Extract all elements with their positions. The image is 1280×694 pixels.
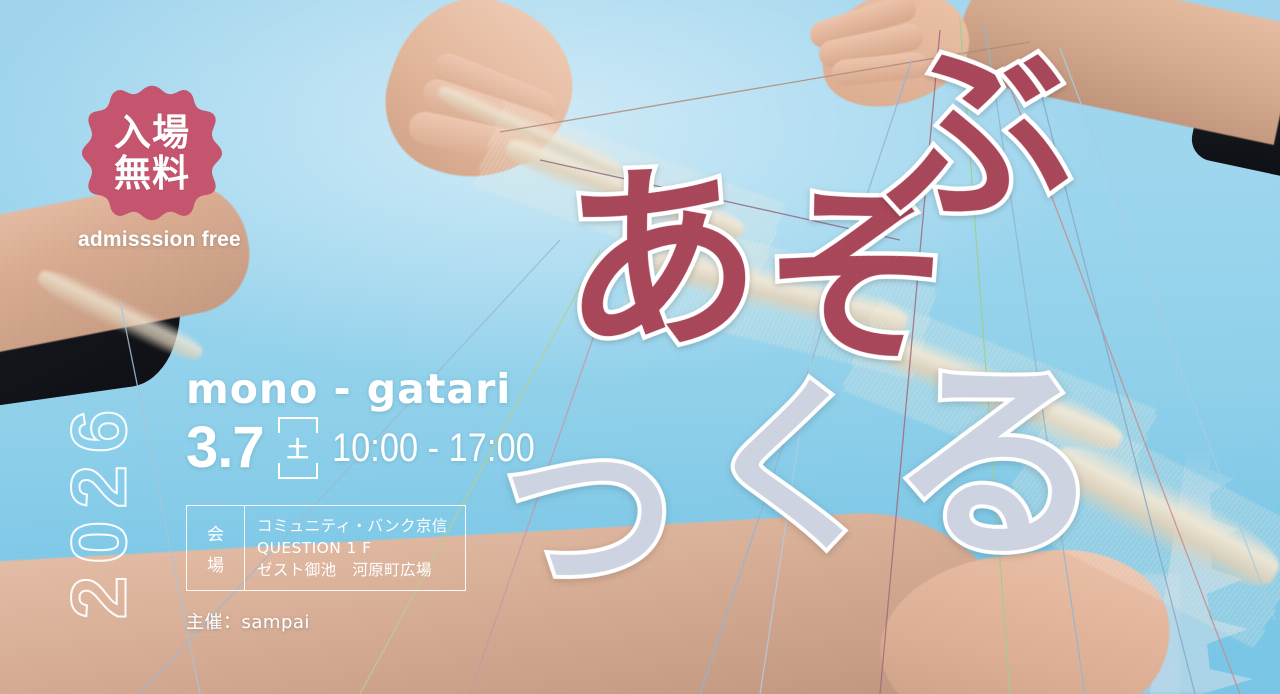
event-time: 10:00 - 17:00 — [332, 428, 535, 468]
venue-label-char-1: 会 — [207, 520, 224, 545]
date-row: 3.7 土 10:00 - 17:00 — [186, 417, 706, 479]
badge-text: 入場 無料 — [82, 82, 222, 224]
event-day-of-week: 土 — [276, 417, 320, 479]
venue-lines: コミュニティ・バンク京信 QUESTION 1 F ゼスト御池 河原町広場 — [245, 506, 448, 590]
kana-ru: る — [885, 351, 1111, 577]
venue-line-1: コミュニティ・バンク京信 — [257, 515, 448, 537]
venue-line-3: ゼスト御池 河原町広場 — [257, 559, 448, 581]
kana-ku: く — [694, 372, 891, 569]
venue-box: 会 場 コミュニティ・バンク京信 QUESTION 1 F ゼスト御池 河原町広… — [186, 505, 466, 591]
venue-line-2: QUESTION 1 F — [257, 537, 448, 559]
organizer-label: 主催：sampai — [186, 608, 706, 634]
event-info-block: mono - gatari 3.7 土 10:00 - 17:00 会 場 コミ… — [186, 368, 706, 634]
venue-label-char-2: 場 — [207, 551, 224, 576]
free-admission-badge: 入場 無料 — [82, 82, 222, 224]
event-title: mono - gatari — [186, 368, 706, 411]
badge-line-2: 無料 — [114, 154, 190, 193]
event-poster: あ そ ぶ つ く る 入場 無料 admisssion free 2026 m… — [0, 0, 1280, 694]
kana-bu: ぶ — [869, 29, 1081, 241]
admission-caption: admisssion free — [78, 228, 241, 252]
kana-a: あ — [553, 155, 766, 368]
venue-label: 会 場 — [187, 506, 245, 590]
badge-line-1: 入場 — [114, 113, 190, 152]
event-date: 3.7 — [186, 419, 264, 477]
year-label: 2026 — [53, 398, 144, 620]
